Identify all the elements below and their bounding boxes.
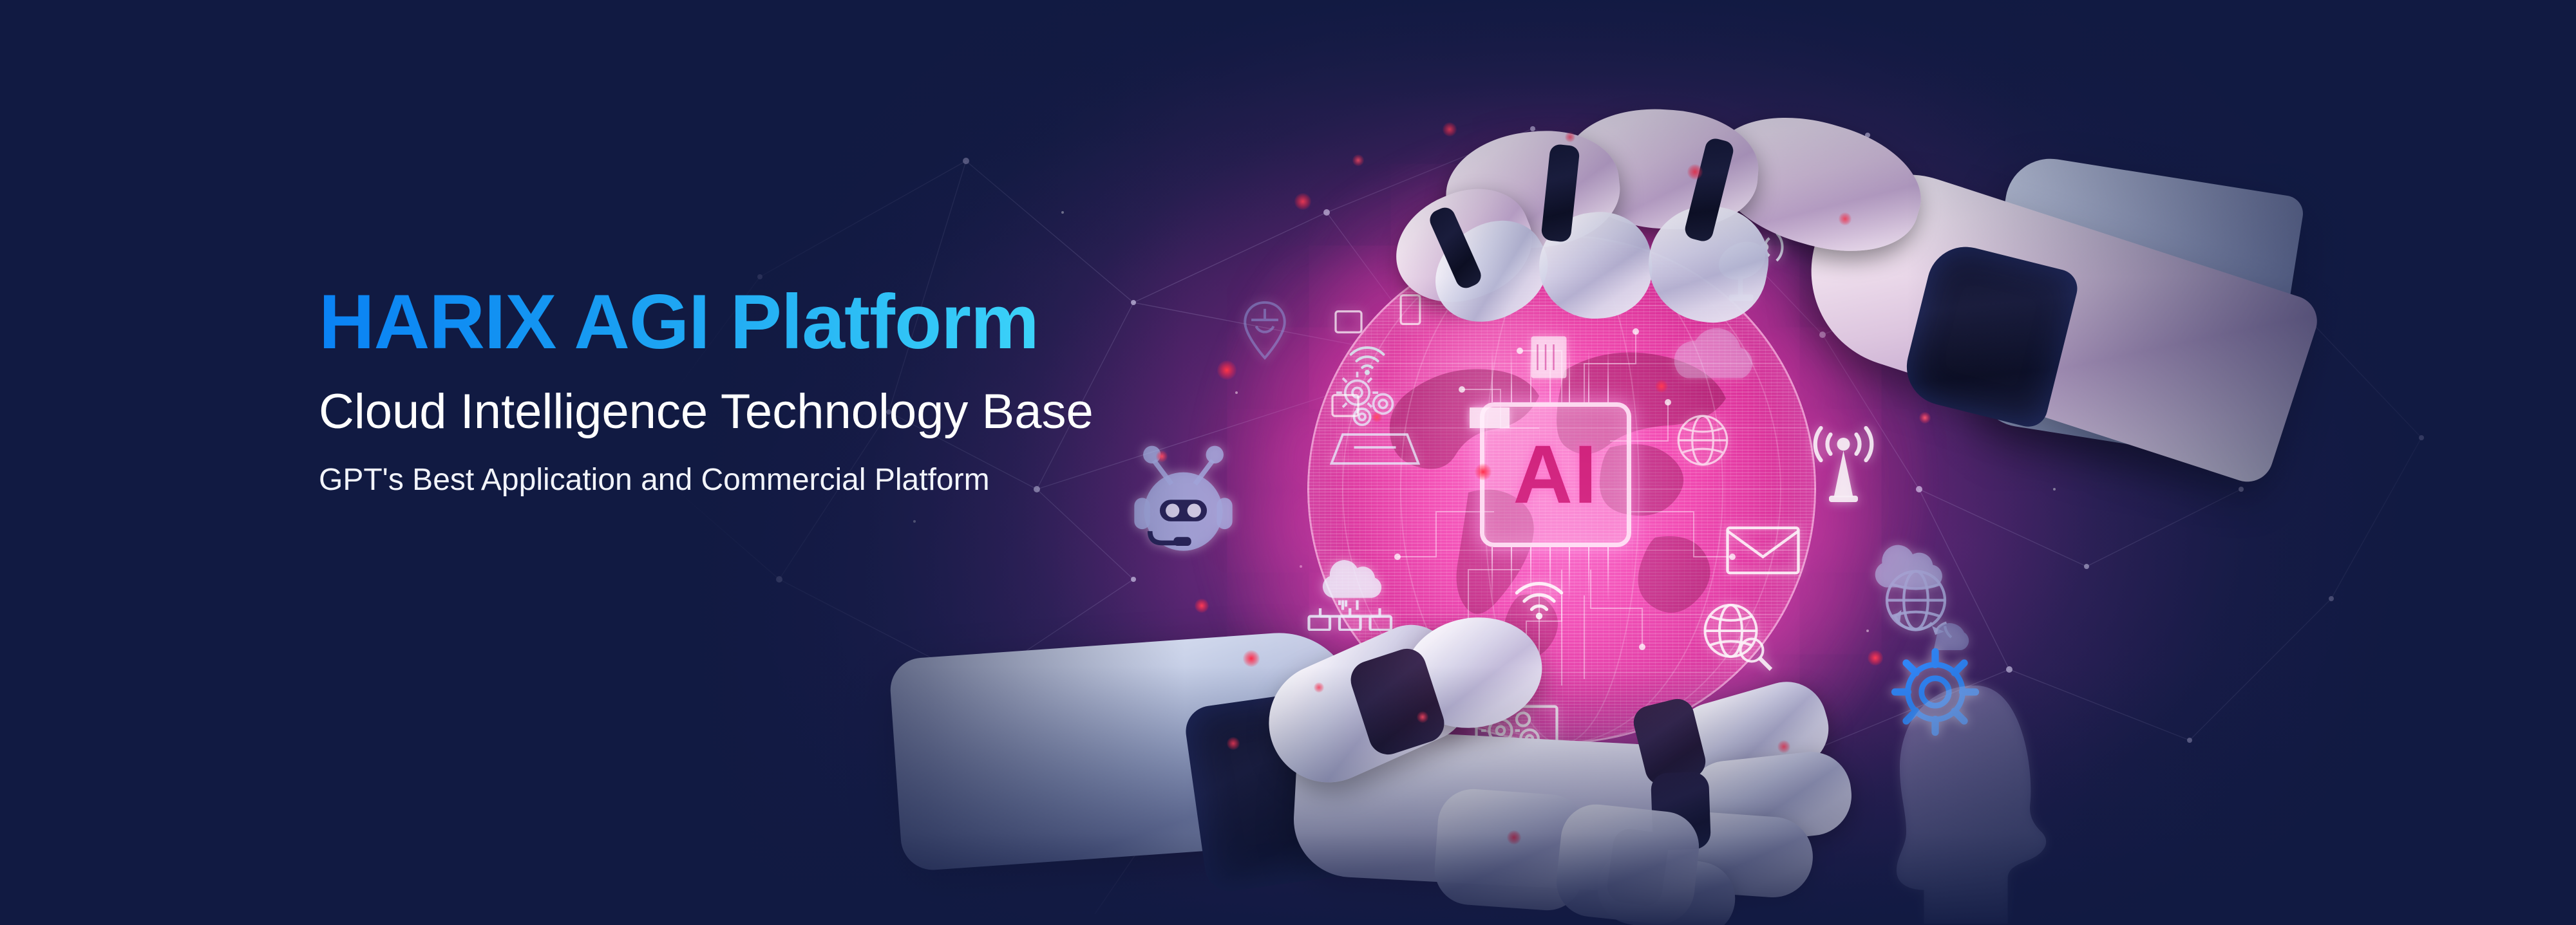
hero-copy-block: HARIX AGI Platform Cloud Intelligence Te… xyxy=(319,283,1156,496)
page-tagline: GPT's Best Application and Commercial Pl… xyxy=(319,465,1156,496)
hero-banner: AI xyxy=(0,0,2576,925)
page-title: HARIX AGI Platform xyxy=(319,283,1156,360)
page-subtitle: Cloud Intelligence Technology Base xyxy=(319,388,1156,436)
